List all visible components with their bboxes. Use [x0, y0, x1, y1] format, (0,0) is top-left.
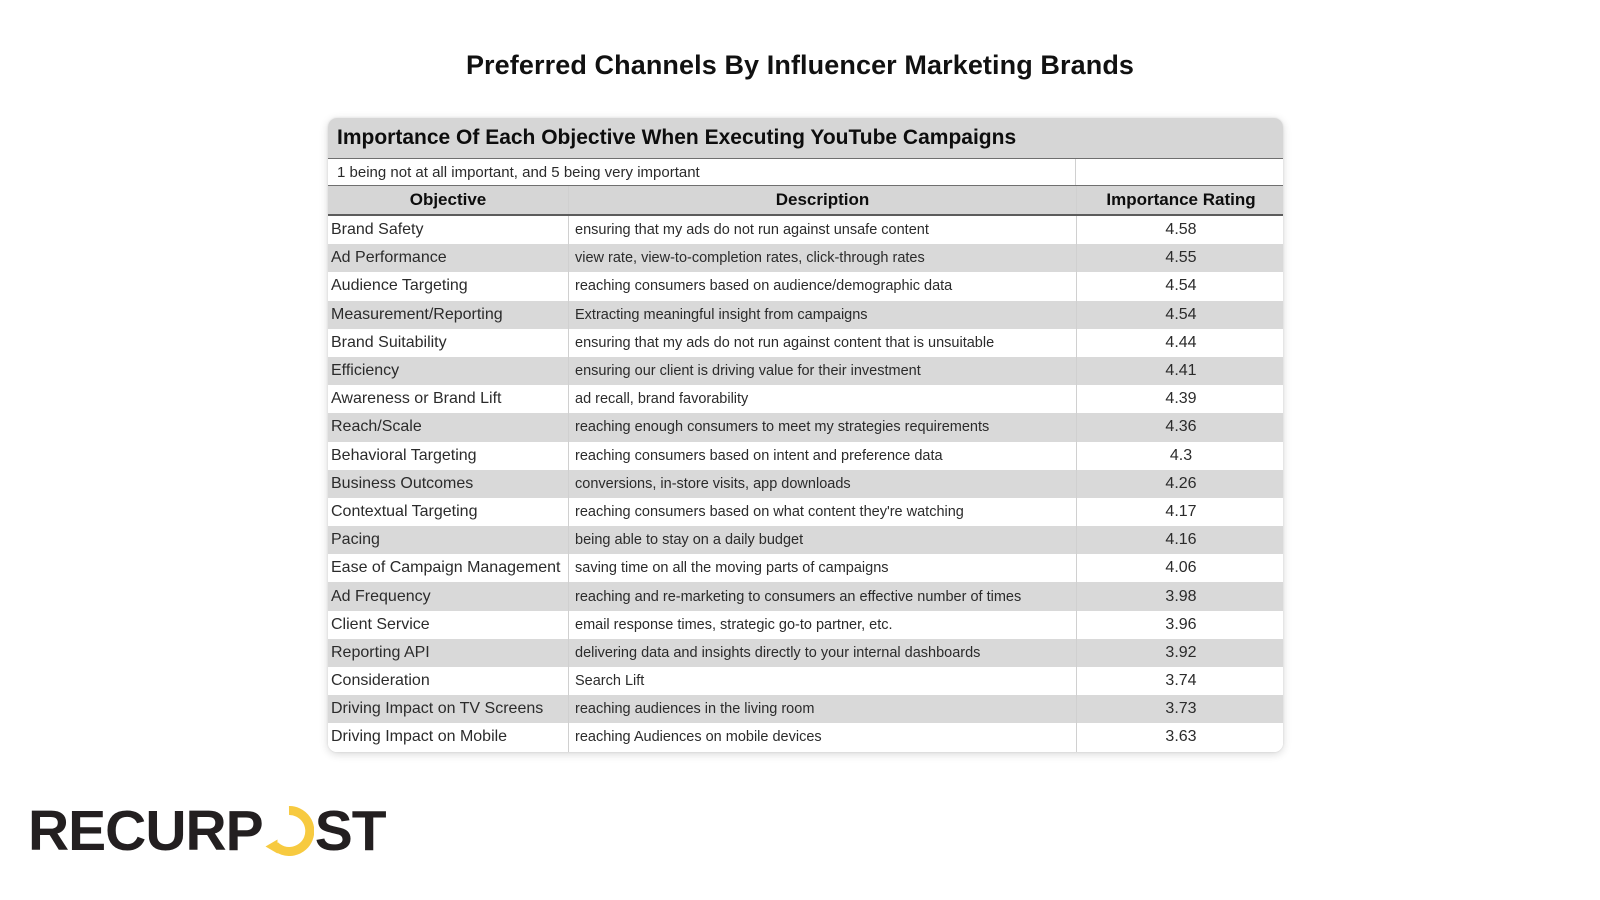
page-root: Preferred Channels By Influencer Marketi… [0, 0, 1600, 900]
cell-rating: 4.39 [1077, 385, 1283, 413]
cell-objective: Brand Safety [328, 216, 568, 244]
cell-rating: 4.17 [1077, 498, 1283, 526]
table-row[interactable]: Brand Safetyensuring that my ads do not … [328, 216, 1283, 244]
table-subtitle: 1 being not at all important, and 5 bein… [328, 164, 700, 181]
table-subtitle-row: 1 being not at all important, and 5 bein… [328, 159, 1283, 186]
table-row[interactable]: Ad Frequencyreaching and re-marketing to… [328, 582, 1283, 610]
cell-objective: Efficiency [328, 357, 568, 385]
cell-description: reaching and re-marketing to consumers a… [569, 582, 1076, 610]
cell-objective: Ad Performance [328, 244, 568, 272]
table-row[interactable]: Audience Targetingreaching consumers bas… [328, 272, 1283, 300]
table-title-band: Importance Of Each Objective When Execut… [328, 118, 1283, 159]
cell-description: reaching enough consumers to meet my str… [569, 413, 1076, 441]
cell-rating: 3.92 [1077, 639, 1283, 667]
cell-description: ensuring that my ads do not run against … [569, 216, 1076, 244]
cell-description: reaching Audiences on mobile devices [569, 723, 1076, 751]
table-row[interactable]: Driving Impact on Mobilereaching Audienc… [328, 723, 1283, 751]
cell-objective: Reach/Scale [328, 413, 568, 441]
table-row[interactable]: Reporting APIdelivering data and insight… [328, 639, 1283, 667]
table-row[interactable]: Awareness or Brand Liftad recall, brand … [328, 385, 1283, 413]
cell-description: ensuring our client is driving value for… [569, 357, 1076, 385]
page-title: Preferred Channels By Influencer Marketi… [0, 50, 1600, 81]
cell-objective: Awareness or Brand Lift [328, 385, 568, 413]
column-header-rating[interactable]: Importance Rating [1077, 190, 1283, 210]
cell-description: view rate, view-to-completion rates, cli… [569, 244, 1076, 272]
cell-rating: 3.98 [1077, 582, 1283, 610]
table-row[interactable]: Business Outcomesconversions, in-store v… [328, 470, 1283, 498]
cell-rating: 4.16 [1077, 526, 1283, 554]
cell-rating: 4.06 [1077, 554, 1283, 582]
cell-description: reaching consumers based on audience/dem… [569, 272, 1076, 300]
table-row[interactable]: Measurement/ReportingExtracting meaningf… [328, 301, 1283, 329]
table-row[interactable]: ConsiderationSearch Lift3.74 [328, 667, 1283, 695]
cell-objective: Behavioral Targeting [328, 442, 568, 470]
cell-objective: Driving Impact on TV Screens [328, 695, 568, 723]
cell-description: reaching consumers based on what content… [569, 498, 1076, 526]
cell-objective: Business Outcomes [328, 470, 568, 498]
cell-description: reaching consumers based on intent and p… [569, 442, 1076, 470]
column-header-description[interactable]: Description [569, 190, 1076, 210]
cell-rating: 4.54 [1077, 301, 1283, 329]
cell-rating: 3.73 [1077, 695, 1283, 723]
table-header-row: Objective Description Importance Rating [328, 186, 1283, 216]
recurpost-logo: RECURP ST [28, 802, 386, 860]
cell-rating: 3.96 [1077, 611, 1283, 639]
cell-objective: Brand Suitability [328, 329, 568, 357]
logo-text-part1: RECURP [28, 803, 263, 860]
cell-rating: 4.36 [1077, 413, 1283, 441]
cell-description: reaching audiences in the living room [569, 695, 1076, 723]
cell-objective: Measurement/Reporting [328, 301, 568, 329]
table-row[interactable]: Driving Impact on TV Screensreaching aud… [328, 695, 1283, 723]
cell-rating: 4.3 [1077, 442, 1283, 470]
table-row[interactable]: Efficiencyensuring our client is driving… [328, 357, 1283, 385]
cell-objective: Ad Frequency [328, 582, 568, 610]
table-row[interactable]: Ad Performanceview rate, view-to-complet… [328, 244, 1283, 272]
cell-rating: 4.55 [1077, 244, 1283, 272]
cell-rating: 4.26 [1077, 470, 1283, 498]
cell-objective: Audience Targeting [328, 272, 568, 300]
cell-rating: 4.44 [1077, 329, 1283, 357]
cell-description: ensuring that my ads do not run against … [569, 329, 1076, 357]
cell-rating: 4.41 [1077, 357, 1283, 385]
table-row[interactable]: Pacingbeing able to stay on a daily budg… [328, 526, 1283, 554]
cell-description: delivering data and insights directly to… [569, 639, 1076, 667]
table-row[interactable]: Brand Suitabilityensuring that my ads do… [328, 329, 1283, 357]
data-table-card: Importance Of Each Objective When Execut… [328, 118, 1283, 752]
cell-objective: Reporting API [328, 639, 568, 667]
table-title: Importance Of Each Objective When Execut… [337, 126, 1016, 150]
cell-objective: Pacing [328, 526, 568, 554]
cell-objective: Consideration [328, 667, 568, 695]
table-row[interactable]: Reach/Scalereaching enough consumers to … [328, 413, 1283, 441]
cell-description: ad recall, brand favorability [569, 385, 1076, 413]
column-header-objective[interactable]: Objective [328, 190, 568, 210]
cell-description: being able to stay on a daily budget [569, 526, 1076, 554]
cell-description: email response times, strategic go-to pa… [569, 611, 1076, 639]
cell-description: Search Lift [569, 667, 1076, 695]
table-row[interactable]: Behavioral Targetingreaching consumers b… [328, 442, 1283, 470]
cell-objective: Ease of Campaign Management [328, 554, 568, 582]
cell-objective: Client Service [328, 611, 568, 639]
cell-description: Extracting meaningful insight from campa… [569, 301, 1076, 329]
cell-rating: 4.58 [1077, 216, 1283, 244]
table-row[interactable]: Client Serviceemail response times, stra… [328, 611, 1283, 639]
cell-description: conversions, in-store visits, app downlo… [569, 470, 1076, 498]
subtitle-divider-right [1075, 159, 1076, 185]
cell-objective: Driving Impact on Mobile [328, 723, 568, 751]
table-body: Brand Safetyensuring that my ads do not … [328, 216, 1283, 752]
cell-objective: Contextual Targeting [328, 498, 568, 526]
table-row[interactable]: Ease of Campaign Managementsaving time o… [328, 554, 1283, 582]
cell-rating: 3.74 [1077, 667, 1283, 695]
cell-rating: 3.63 [1077, 723, 1283, 751]
table-row[interactable]: Contextual Targetingreaching consumers b… [328, 498, 1283, 526]
cell-rating: 4.54 [1077, 272, 1283, 300]
cell-description: saving time on all the moving parts of c… [569, 554, 1076, 582]
logo-text-part2: ST [315, 803, 386, 860]
clock-refresh-icon [264, 806, 314, 856]
